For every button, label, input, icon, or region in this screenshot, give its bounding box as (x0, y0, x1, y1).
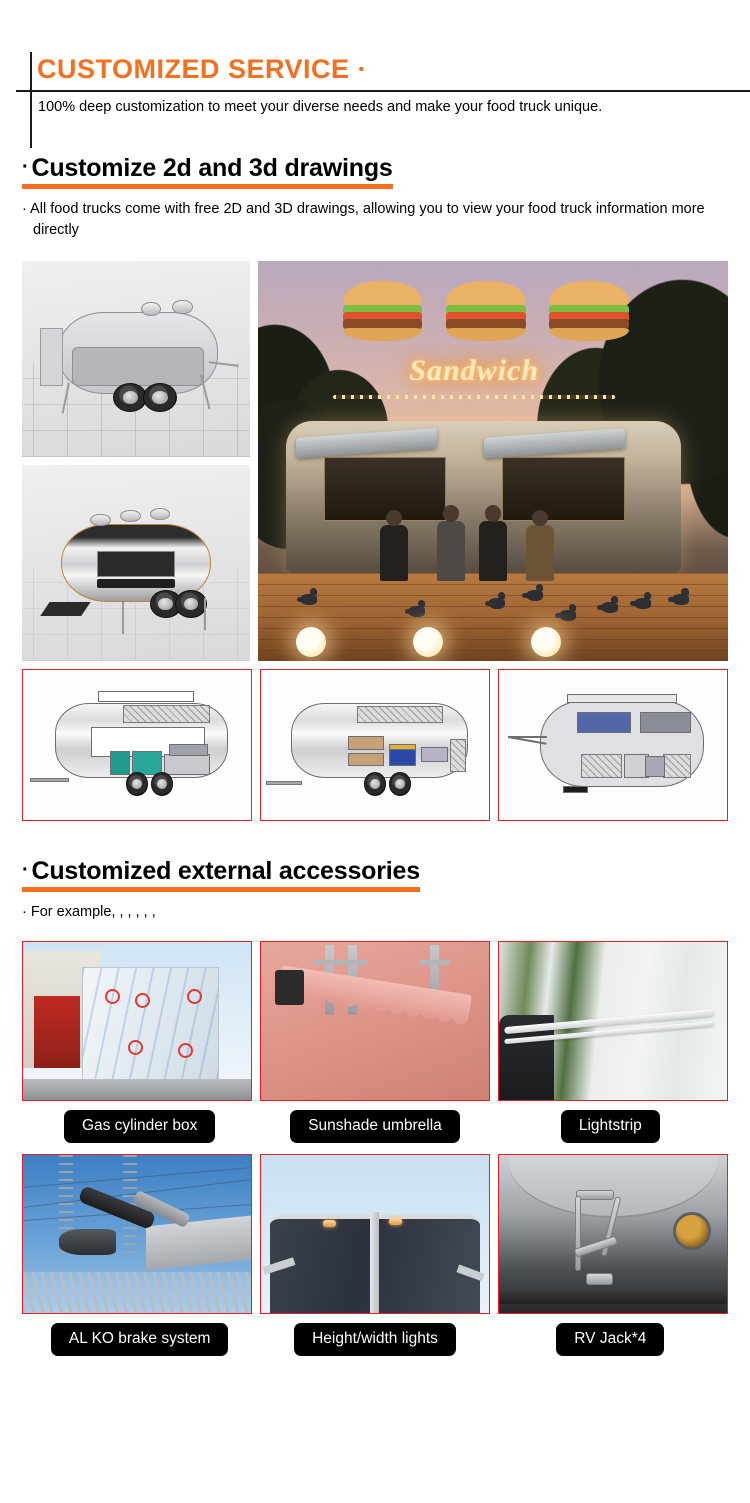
render-silver-vent-2 (120, 510, 141, 522)
gas-box-ring-2 (135, 993, 150, 1008)
drawing-tongue-2 (266, 781, 302, 785)
hero-person-1 (380, 525, 408, 581)
drawing-rear-hatch-2 (450, 739, 466, 772)
accessories-caption-row-1: Gas cylinder box Sunshade umbrella Light… (22, 1110, 728, 1143)
section-underline-accessories (22, 887, 420, 892)
accessory-caption-rv-jack: RV Jack*4 (556, 1323, 664, 1356)
render-vent-2 (172, 300, 193, 314)
header-vertical-rule (30, 52, 32, 148)
render-door-panel (40, 328, 63, 387)
gas-box-ring-4 (128, 1040, 143, 1055)
drawing-wheel-1a (126, 772, 149, 796)
pigeon-icon-8 (672, 594, 689, 605)
render-silver-leg (122, 602, 124, 633)
drawing-wheel-2a (364, 772, 387, 796)
accessory-photo-lightstrip[interactable] (498, 941, 728, 1101)
drawing-floorplan-hatch-left (581, 754, 622, 778)
awning-mount-bracket (275, 970, 305, 1005)
drawing-wheel-1b (151, 772, 174, 796)
drawing-floorplan-step (563, 786, 588, 794)
pigeon-icon-4 (526, 590, 543, 601)
render-silver-vent-3 (150, 508, 171, 520)
caption-cell-1: Gas cylinder box (22, 1110, 257, 1143)
hero-photo-food-truck[interactable]: Sandwich (258, 261, 728, 661)
caption-cell-4: AL KO brake system (22, 1323, 257, 1356)
drawing-fridge-blue (389, 748, 416, 766)
height-light-lamp-left (323, 1220, 336, 1227)
drawing-row (22, 669, 728, 821)
accessory-photo-rv-jack[interactable] (498, 1154, 728, 1314)
caption-cell-3: Lightstrip (493, 1110, 728, 1143)
drawing-tongue-1 (30, 778, 69, 782)
gas-cylinder-box-object (82, 967, 219, 1081)
section-underline-drawings (22, 184, 393, 189)
alko-coupler-head (59, 1229, 116, 1254)
hero-marquee-sign-text: Sandwich (343, 345, 606, 397)
section-accessories: ·Customized external accessories · For e… (0, 855, 750, 1356)
section-bullet-icon: · (22, 156, 28, 178)
accessory-cell-lightstrip (498, 941, 728, 1101)
section-heading-drawings-wrap: ·Customize 2d and 3d drawings (22, 152, 393, 189)
render-silver-vent-1 (90, 514, 111, 526)
hero-service-window-left (324, 457, 446, 521)
caption-cell-2: Sunshade umbrella (257, 1110, 492, 1143)
caption-cell-6: RV Jack*4 (493, 1323, 728, 1356)
accessory-caption-sunshade-umbrella: Sunshade umbrella (290, 1110, 460, 1143)
height-light-lamp-right (389, 1218, 402, 1225)
pigeon-icon-7 (634, 598, 651, 609)
hero-person-3 (479, 521, 507, 581)
drawing-roof-hatch-1 (123, 705, 210, 723)
drawing-oven-2 (348, 753, 384, 767)
hero-person-4 (526, 525, 554, 581)
drawing-wheel-2b (389, 772, 412, 796)
hero-person-2 (437, 521, 465, 581)
drawings-gallery: Sandwich (22, 261, 728, 661)
gas-trailer-chassis (23, 1079, 251, 1100)
render-card-transparent[interactable] (22, 261, 250, 457)
hw-corner-trim (370, 1212, 379, 1313)
section-bullet-icon-2: · (22, 859, 28, 881)
accessory-caption-height-width-lights: Height/width lights (294, 1323, 456, 1356)
section-drawings: ·Customize 2d and 3d drawings · All food… (0, 152, 750, 821)
rv-jack-assembly (567, 1190, 629, 1291)
burger-sign-icon-3 (549, 281, 629, 341)
section-heading-accessories-text: Customized external accessories (31, 857, 419, 885)
deck-orb-light-2 (413, 627, 443, 657)
section-description-drawings: · All food trucks come with free 2D and … (22, 199, 728, 241)
drawing-oven-1 (348, 736, 384, 750)
accessory-cell-height-width-lights (260, 1154, 490, 1314)
drawing-floorplan-fridge (645, 756, 666, 777)
render-vent-1 (141, 302, 162, 316)
accessories-caption-row-2: AL KO brake system Height/width lights R… (22, 1323, 728, 1356)
section-heading-accessories-wrap: ·Customized external accessories (22, 855, 420, 892)
render-silver-leg-2 (204, 598, 206, 629)
section-heading-drawings-text: Customize 2d and 3d drawings (31, 154, 392, 182)
deck-orb-light-1 (296, 627, 326, 657)
drawing-microwave (421, 747, 448, 762)
rv-jack-foot-plate (586, 1273, 613, 1285)
rv-jack-upper-frame (576, 1190, 614, 1200)
drawing-equipment-green-1 (110, 751, 131, 775)
render-silver-wheel-2 (175, 590, 207, 617)
render-silver-window (97, 551, 175, 576)
drawing-card-oven[interactable] (260, 669, 490, 821)
hero-wooden-deck (258, 573, 728, 661)
drawing-card-kitchen[interactable] (22, 669, 252, 821)
section-heading-drawings: ·Customize 2d and 3d drawings (22, 152, 393, 183)
pigeon-icon-2 (408, 606, 425, 617)
accessory-cell-sunshade-umbrella (260, 941, 490, 1101)
hero-service-window-right (502, 457, 624, 521)
alko-foreground-fence (23, 1272, 251, 1313)
render-trailer-interior (72, 347, 204, 386)
accessory-photo-gas-cylinder-box[interactable] (22, 941, 252, 1101)
accessory-cell-al-ko-brake-system (22, 1154, 252, 1314)
drawing-roof-rack-1 (98, 691, 194, 702)
drawing-floorplan-hatch-right (663, 754, 690, 778)
drawing-floorplan-bench-blue (577, 712, 632, 733)
page-title: CUSTOMIZED SERVICE · (32, 52, 750, 86)
gas-background-red-sign (34, 996, 80, 1069)
section-description-accessories: · For example, , , , , , (22, 902, 728, 923)
render-wheel-2 (143, 383, 177, 412)
caption-cell-5: Height/width lights (257, 1323, 492, 1356)
accessory-cell-gas-cylinder-box (22, 941, 252, 1101)
accessory-caption-lightstrip: Lightstrip (561, 1110, 660, 1143)
drawing-floorplan-bench-gray (640, 712, 690, 733)
accessories-row-1 (22, 941, 728, 1101)
burger-sign-icon-2 (446, 281, 526, 341)
header-horizontal-rule (16, 90, 750, 92)
pigeon-icon-1 (300, 594, 317, 605)
rv-jack-left-leg (575, 1196, 581, 1271)
deck-orb-light-3 (531, 627, 561, 657)
drawing-stove-1 (169, 744, 208, 756)
render-silver-counter (97, 579, 175, 589)
rv-jack-crank-wheel (673, 1212, 711, 1250)
accessory-photo-al-ko-brake-system[interactable] (22, 1154, 252, 1314)
rv-chassis-beam (499, 1289, 727, 1303)
drawing-card-floorplan[interactable] (498, 669, 728, 821)
accessory-photo-sunshade-umbrella[interactable] (260, 941, 490, 1101)
accessories-row-2 (22, 1154, 728, 1314)
accessory-caption-al-ko-brake-system: AL KO brake system (51, 1323, 229, 1356)
drawing-roof-hatch-2 (357, 706, 444, 723)
pigeon-icon-3 (488, 598, 505, 609)
drawing-counter-1 (164, 754, 210, 775)
accessory-cell-rv-jack (498, 1154, 728, 1314)
pigeon-icon-6 (601, 602, 618, 613)
accessories-grid: Gas cylinder box Sunshade umbrella Light… (22, 941, 728, 1356)
section-heading-accessories: ·Customized external accessories (22, 855, 420, 886)
drawing-floorplan-counter-top (567, 694, 676, 703)
render-column (22, 261, 250, 661)
hero-marquee-bulb-strip (333, 395, 615, 399)
burger-sign-icon-1 (343, 281, 423, 341)
drawing-equipment-yellow (389, 744, 416, 750)
page-header: CUSTOMIZED SERVICE · 100% deep customiza… (0, 52, 750, 118)
render-card-silver[interactable] (22, 465, 250, 661)
accessory-photo-height-width-lights[interactable] (260, 1154, 490, 1314)
pigeon-icon-5 (559, 610, 576, 621)
accessory-caption-gas-cylinder-box: Gas cylinder box (64, 1110, 215, 1143)
